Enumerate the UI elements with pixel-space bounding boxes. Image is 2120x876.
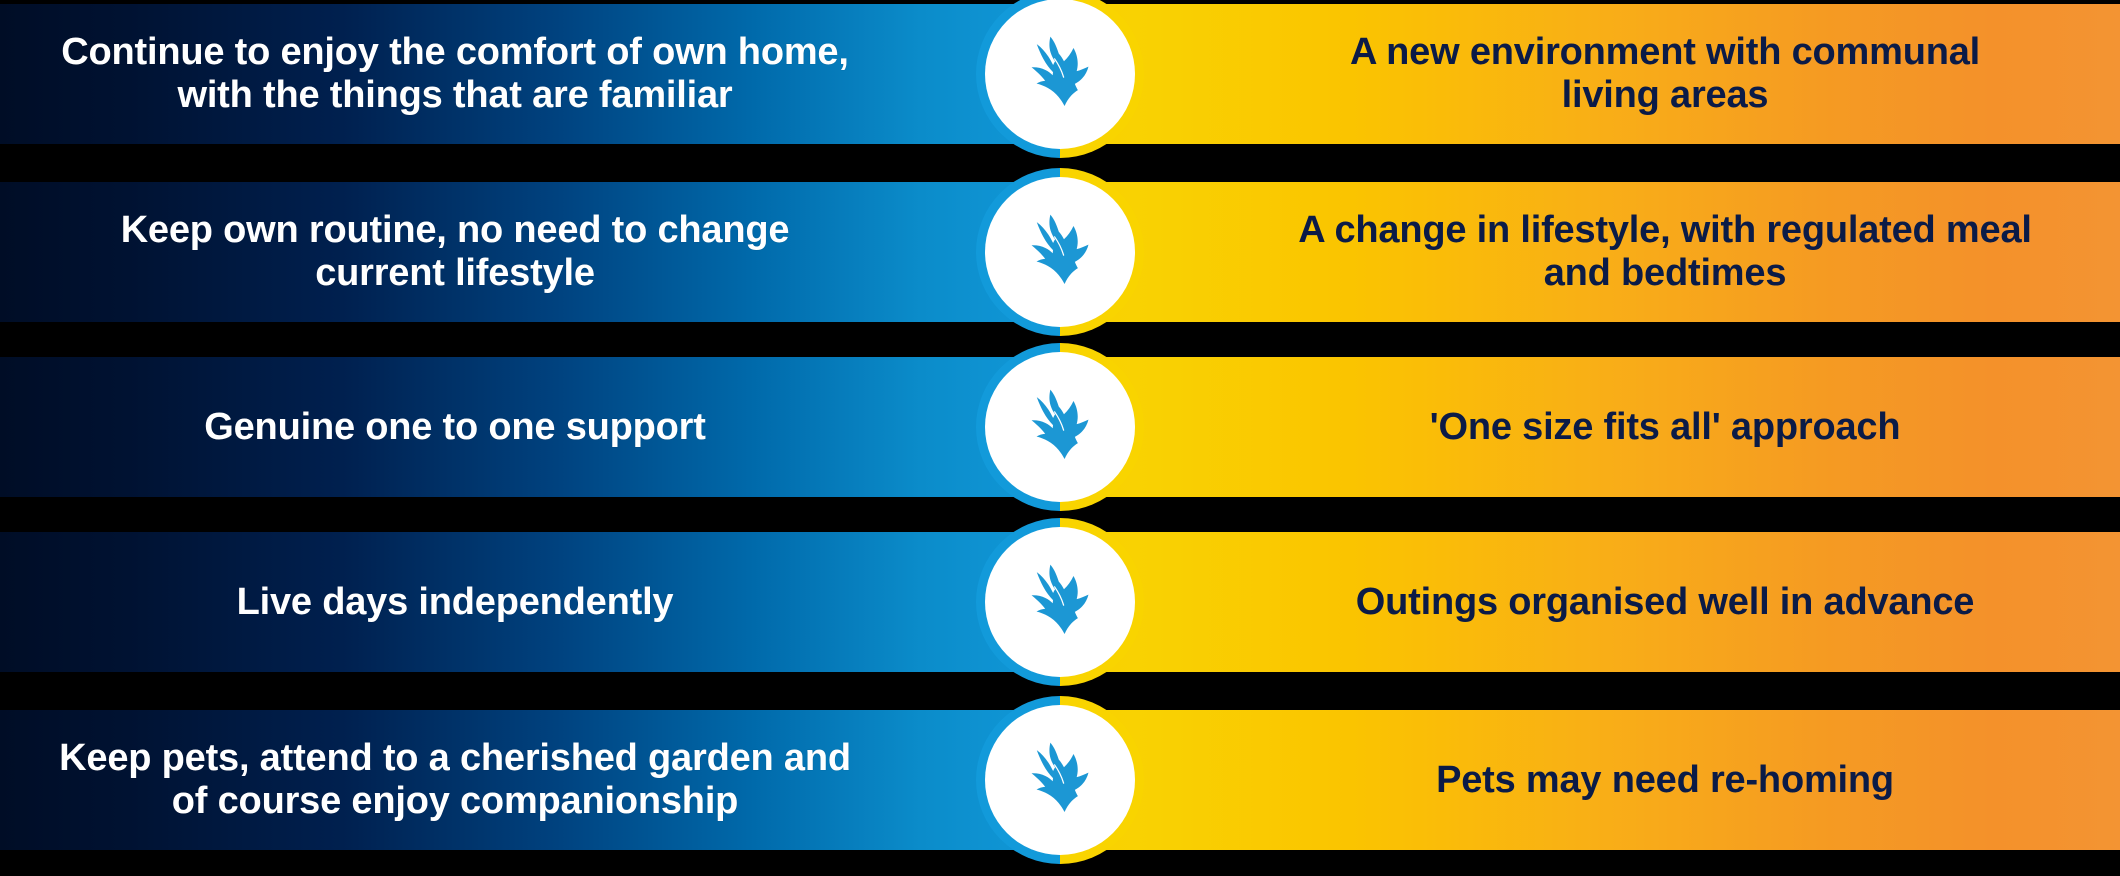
residential-care-text: A change in lifestyle, with regulated me… — [1298, 209, 2032, 294]
residential-care-bar: 'One size fits all' approach — [1050, 357, 2120, 497]
centre-medallion — [976, 0, 1144, 158]
bird-icon — [1017, 209, 1103, 295]
bird-icon — [1017, 384, 1103, 470]
residential-care-text: 'One size fits all' approach — [1430, 406, 1901, 449]
comparison-row: Keep own routine, no need to change curr… — [0, 182, 2120, 322]
comparison-row: Continue to enjoy the comfort of own hom… — [0, 4, 2120, 144]
home-care-text: Live days independently — [237, 581, 674, 624]
comparison-row: Keep pets, attend to a cherished garden … — [0, 710, 2120, 850]
home-care-bar: Genuine one to one support — [0, 357, 1070, 497]
bird-icon — [1017, 737, 1103, 823]
residential-care-bar: A new environment with communal living a… — [1050, 4, 2120, 144]
residential-care-bar: Pets may need re-homing — [1050, 710, 2120, 850]
bird-icon — [1017, 31, 1103, 117]
residential-care-bar: A change in lifestyle, with regulated me… — [1050, 182, 2120, 322]
home-care-bar: Live days independently — [0, 532, 1070, 672]
centre-medallion — [976, 343, 1144, 511]
home-care-bar: Continue to enjoy the comfort of own hom… — [0, 4, 1070, 144]
home-care-text: Genuine one to one support — [204, 406, 705, 449]
centre-medallion — [976, 696, 1144, 864]
centre-medallion — [976, 518, 1144, 686]
home-care-text: Keep pets, attend to a cherished garden … — [59, 737, 851, 822]
comparison-row: Genuine one to one support 'One size fit… — [0, 357, 2120, 497]
residential-care-text: Outings organised well in advance — [1356, 581, 1974, 624]
home-care-bar: Keep own routine, no need to change curr… — [0, 182, 1070, 322]
residential-care-text: Pets may need re-homing — [1436, 759, 1894, 802]
home-care-bar: Keep pets, attend to a cherished garden … — [0, 710, 1070, 850]
home-care-text: Continue to enjoy the comfort of own hom… — [61, 31, 848, 116]
residential-care-bar: Outings organised well in advance — [1050, 532, 2120, 672]
comparison-infographic: Continue to enjoy the comfort of own hom… — [0, 0, 2120, 876]
residential-care-text: A new environment with communal living a… — [1350, 31, 1980, 116]
centre-medallion — [976, 168, 1144, 336]
bird-icon — [1017, 559, 1103, 645]
comparison-row: Live days independently Outings organise… — [0, 532, 2120, 672]
home-care-text: Keep own routine, no need to change curr… — [121, 209, 790, 294]
